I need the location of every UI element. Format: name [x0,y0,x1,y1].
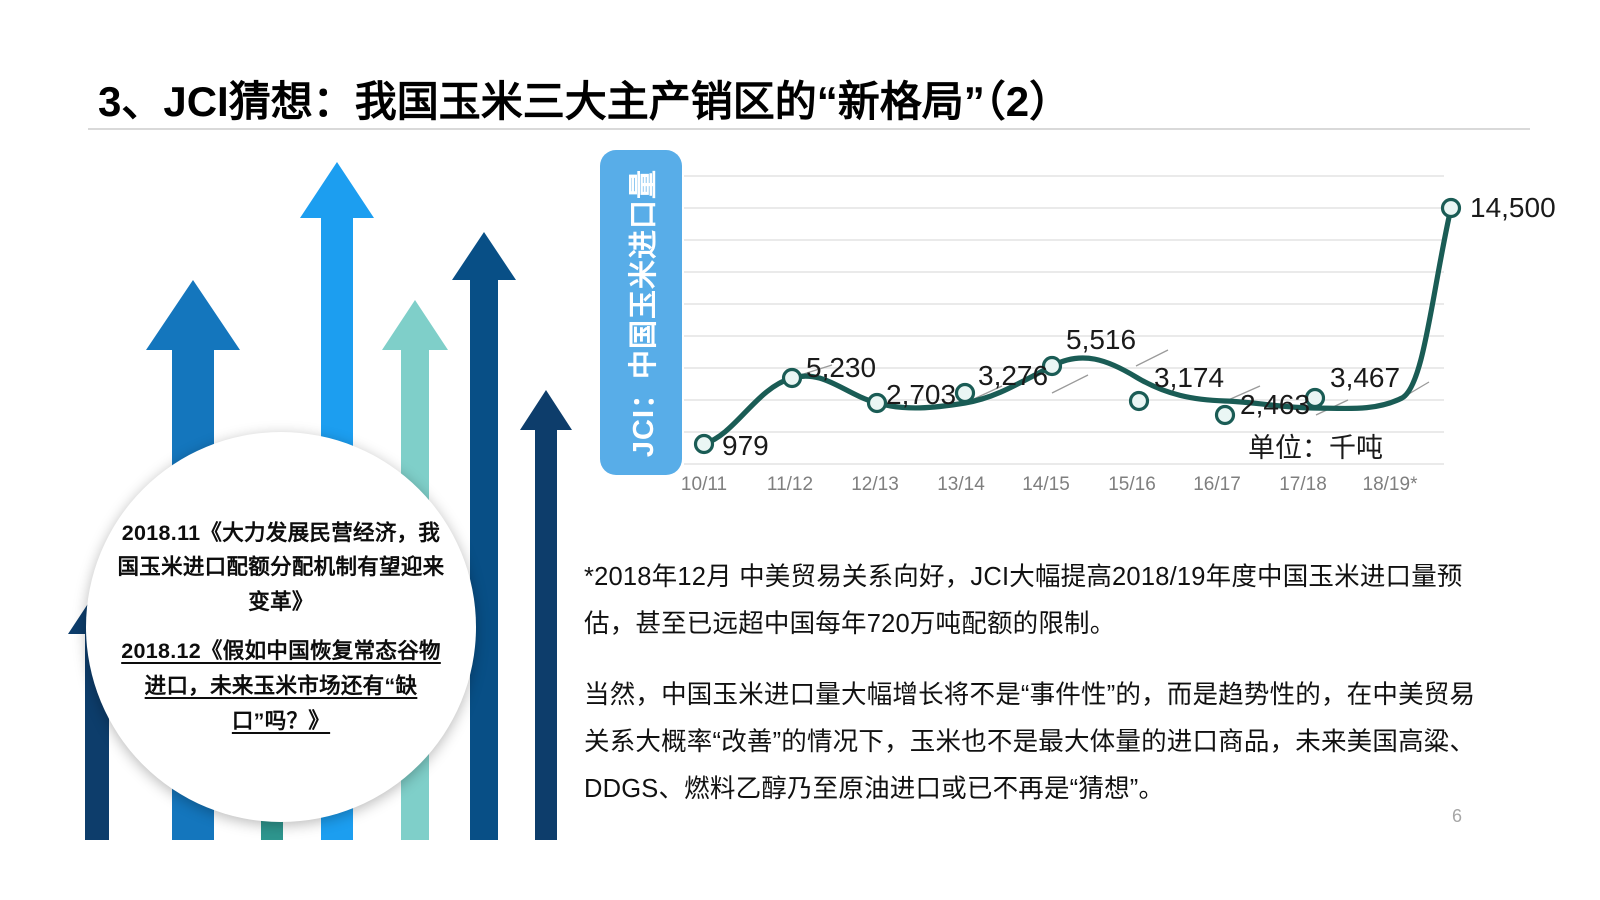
xtick-7: 17/18 [1279,474,1327,496]
circle-callout: 2018.11《大力发展民营经济，我国玉米进口配额分配机制有望迎来变革》 201… [86,432,476,822]
page-title: 3、JCI猜想：我国玉米三大主产销区的“新格局”（2） [98,68,1071,129]
data-label-0: 979 [722,430,769,462]
callout-line-1: 2018.11《大力发展民营经济，我国玉米进口配额分配机制有望迎来变革》 [112,516,450,620]
title-divider [88,128,1530,130]
xtick-5: 15/16 [1108,474,1156,496]
chart-gridlines [684,176,1444,464]
arrow-6-icon [452,232,516,840]
chart-axis-label-text: JCI：中国玉米进口量 [620,168,662,456]
xtick-0: 10/11 [681,474,727,496]
data-label-6: 2,463 [1240,389,1310,421]
xtick-8: 18/19* [1363,474,1418,496]
data-label-7: 3,467 [1330,362,1400,394]
xtick-1: 11/12 [767,474,813,496]
data-label-4: 5,516 [1066,324,1136,356]
page-number: 6 [1452,806,1462,827]
data-label-2: 2,703 [886,379,956,411]
chart-axis-label-pill: JCI：中国玉米进口量 [600,150,682,475]
body-paragraph-2: 当然，中国玉米进口量大幅增长将不是“事件性”的，而是趋势性的，在中美贸易关系大概… [584,672,1489,814]
xtick-4: 14/15 [1022,474,1070,496]
chart: JCI：中国玉米进口量 [584,150,1504,510]
data-label-8: 14,500 [1470,192,1556,224]
chart-unit-note: 单位：千吨 [1248,426,1383,465]
chart-x-axis: 10/11 11/12 12/13 13/14 14/15 15/16 16/1… [584,474,1504,508]
xtick-6: 16/17 [1193,474,1241,496]
body-paragraph-1: *2018年12月 中美贸易关系向好，JCI大幅提高2018/19年度中国玉米进… [584,554,1489,648]
arrow-7-icon [520,390,572,840]
xtick-3: 13/14 [937,474,985,496]
data-label-5: 3,174 [1154,362,1224,394]
slide-root: 3、JCI猜想：我国玉米三大主产销区的“新格局”（2） 2018.11《大力发展… [0,0,1600,900]
data-label-3: 3,276 [978,360,1048,392]
data-label-1: 5,230 [806,352,876,384]
callout-line-2: 2018.12《假如中国恢复常态谷物进口，未来玉米市场还有“缺口”吗？》 [112,634,450,738]
xtick-2: 12/13 [851,474,899,496]
